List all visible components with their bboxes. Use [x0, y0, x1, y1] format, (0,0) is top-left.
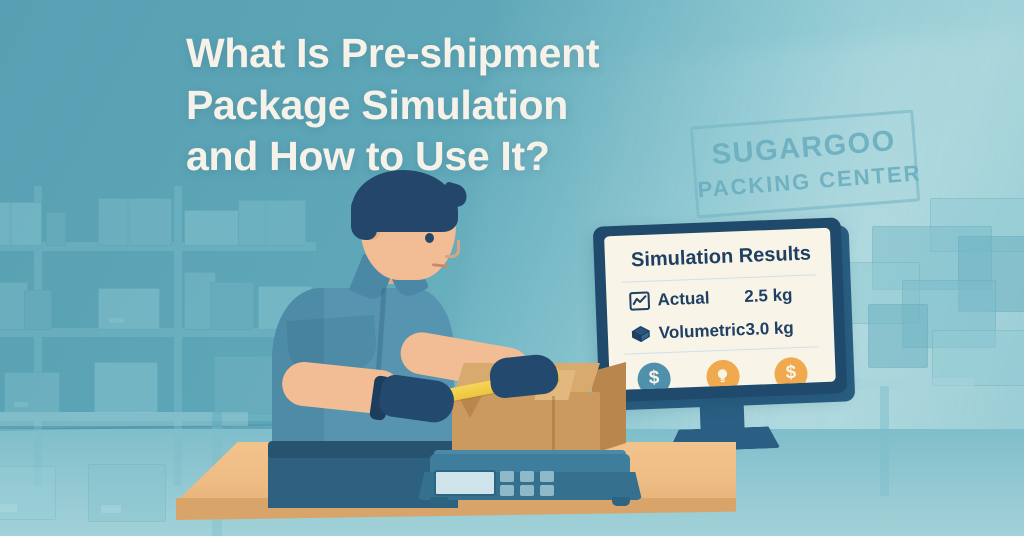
page-title: What Is Pre-shipment Package Simulation … — [186, 28, 706, 183]
result-label-volumetric: Volumetric — [658, 320, 745, 343]
result-label-actual: Actual — [657, 288, 710, 310]
line-chart-icon — [628, 290, 651, 313]
title-line-3: and How to Use It? — [186, 131, 706, 183]
scale-key-1[interactable] — [500, 471, 514, 482]
result-value-actual: 2.5 kg — [744, 284, 815, 307]
dollar-icon-orange[interactable]: $ — [774, 356, 808, 390]
status-icon-row: $ $ — [635, 354, 816, 390]
scale-key-2[interactable] — [520, 471, 534, 482]
scale-key-6[interactable] — [540, 485, 554, 496]
scale-display — [434, 470, 496, 496]
result-value-volumetric: 3.0 kg — [745, 317, 816, 340]
result-row-volumetric: Volumetric 3.0 kg — [629, 313, 816, 348]
title-line-2: Package Simulation — [186, 80, 706, 132]
scale-key-4[interactable] — [500, 485, 514, 496]
illustration-banner: SUGARGOO PACKING CENTER What Is Pre-ship… — [0, 0, 1024, 536]
lightbulb-icon[interactable] — [705, 359, 739, 390]
worker-hair-side — [351, 192, 377, 240]
title-line-1: What Is Pre-shipment — [186, 28, 706, 80]
monitor-screen: Simulation Results Actual 2.5 kg — [604, 228, 836, 391]
worker-eye — [425, 233, 434, 243]
wall-sign: SUGARGOO PACKING CENTER — [690, 110, 920, 219]
result-row-actual: Actual 2.5 kg — [628, 280, 815, 315]
dollar-icon-blue[interactable]: $ — [637, 361, 671, 390]
worker-glove-right — [488, 353, 560, 400]
box-seam — [552, 396, 555, 454]
scale-key-5[interactable] — [520, 485, 534, 496]
monitor: Simulation Results Actual 2.5 kg — [593, 217, 848, 402]
box-3d-icon — [629, 323, 652, 346]
scale-foot-right — [612, 497, 630, 506]
scale-foot-left — [430, 497, 448, 506]
worker-nose — [445, 240, 460, 258]
scale-key-3[interactable] — [540, 471, 554, 482]
worker-belt — [268, 441, 458, 458]
screen-title: Simulation Results — [631, 242, 812, 272]
